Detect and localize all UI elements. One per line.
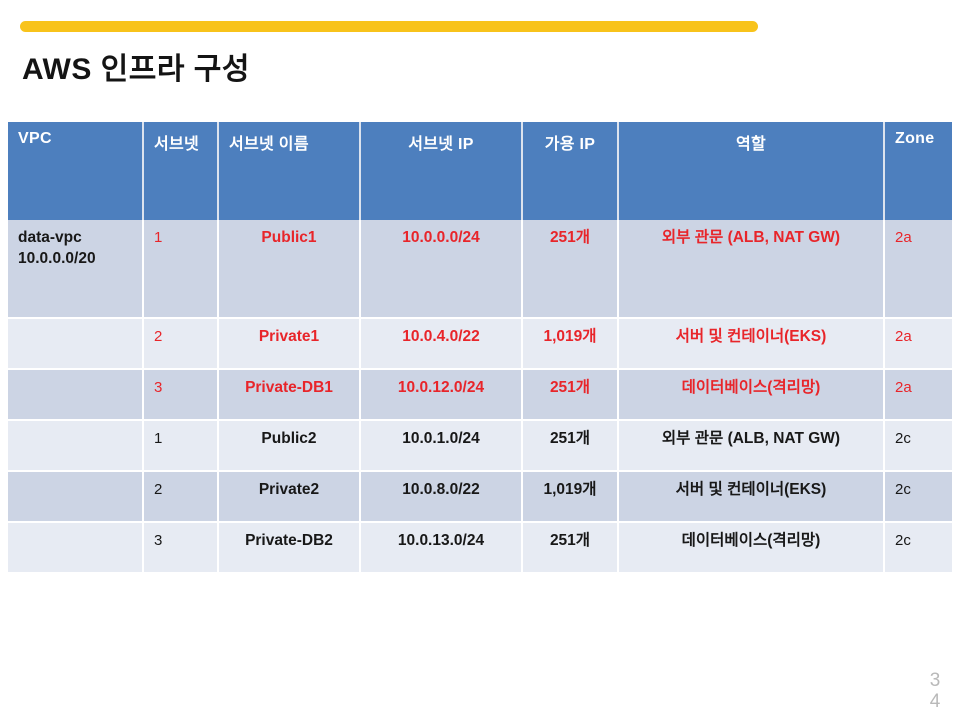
- cell-subnet-index: 3: [143, 522, 218, 573]
- infra-table: VPC 서브넷 서브넷 이름 서브넷 IP 가용 IP 역할 Zone data…: [8, 122, 952, 574]
- table-header-row: VPC 서브넷 서브넷 이름 서브넷 IP 가용 IP 역할 Zone: [8, 122, 952, 220]
- column-header-available-ip: 가용 IP: [522, 122, 618, 220]
- column-header-role: 역할: [618, 122, 884, 220]
- column-header-subnet: 서브넷: [143, 122, 218, 220]
- cell-vpc: [8, 318, 143, 369]
- cell-subnet-ip: 10.0.1.0/24: [360, 420, 522, 471]
- cell-subnet-ip: 10.0.8.0/22: [360, 471, 522, 522]
- table-body: data-vpc 10.0.0.0/20 1 Public1 10.0.0.0/…: [8, 220, 952, 573]
- title-accent-bar: [20, 21, 758, 32]
- cell-zone: 2a: [884, 220, 952, 318]
- slide-canvas: AWS 인프라 구성 VPC 서브넷 서브넷 이름 서브넷 IP 가용 IP 역…: [0, 0, 960, 720]
- table-row: 3 Private-DB2 10.0.13.0/24 251개 데이터베이스(격…: [8, 522, 952, 573]
- cell-subnet-index: 2: [143, 471, 218, 522]
- cell-zone: 2a: [884, 318, 952, 369]
- cell-vpc: [8, 420, 143, 471]
- cell-subnet-name: Public1: [218, 220, 360, 318]
- cell-role: 데이터베이스(격리망): [618, 369, 884, 420]
- cell-available-ip: 251개: [522, 420, 618, 471]
- cell-role: 외부 관문 (ALB, NAT GW): [618, 420, 884, 471]
- cell-available-ip: 251개: [522, 369, 618, 420]
- cell-vpc: [8, 471, 143, 522]
- cell-available-ip: 1,019개: [522, 318, 618, 369]
- page-number: 3 4: [924, 670, 946, 712]
- cell-role: 외부 관문 (ALB, NAT GW): [618, 220, 884, 318]
- cell-zone: 2a: [884, 369, 952, 420]
- table-row: 2 Private2 10.0.8.0/22 1,019개 서버 및 컨테이너(…: [8, 471, 952, 522]
- cell-role: 서버 및 컨테이너(EKS): [618, 318, 884, 369]
- table-header: VPC 서브넷 서브넷 이름 서브넷 IP 가용 IP 역할 Zone: [8, 122, 952, 220]
- cell-subnet-index: 1: [143, 420, 218, 471]
- table-row: 3 Private-DB1 10.0.12.0/24 251개 데이터베이스(격…: [8, 369, 952, 420]
- column-header-zone: Zone: [884, 122, 952, 220]
- cell-subnet-ip: 10.0.12.0/24: [360, 369, 522, 420]
- cell-vpc: [8, 522, 143, 573]
- cell-role: 서버 및 컨테이너(EKS): [618, 471, 884, 522]
- infra-table-container: VPC 서브넷 서브넷 이름 서브넷 IP 가용 IP 역할 Zone data…: [8, 122, 952, 574]
- cell-subnet-index: 2: [143, 318, 218, 369]
- cell-subnet-index: 3: [143, 369, 218, 420]
- cell-subnet-name: Public2: [218, 420, 360, 471]
- cell-zone: 2c: [884, 420, 952, 471]
- cell-available-ip: 251개: [522, 522, 618, 573]
- cell-role: 데이터베이스(격리망): [618, 522, 884, 573]
- page-title: AWS 인프라 구성: [22, 44, 250, 88]
- cell-zone: 2c: [884, 471, 952, 522]
- cell-available-ip: 251개: [522, 220, 618, 318]
- cell-vpc: [8, 369, 143, 420]
- cell-zone: 2c: [884, 522, 952, 573]
- column-header-subnet-name: 서브넷 이름: [218, 122, 360, 220]
- column-header-subnet-ip: 서브넷 IP: [360, 122, 522, 220]
- table-row: data-vpc 10.0.0.0/20 1 Public1 10.0.0.0/…: [8, 220, 952, 318]
- vpc-cidr-line: 10.0.0.0/20: [18, 250, 96, 267]
- cell-subnet-name: Private-DB2: [218, 522, 360, 573]
- page-number-digit-1: 3: [924, 670, 946, 691]
- cell-subnet-ip: 10.0.0.0/24: [360, 220, 522, 318]
- cell-available-ip: 1,019개: [522, 471, 618, 522]
- column-header-vpc: VPC: [8, 122, 143, 220]
- cell-subnet-ip: 10.0.13.0/24: [360, 522, 522, 573]
- page-number-digit-2: 4: [924, 691, 946, 712]
- table-row: 1 Public2 10.0.1.0/24 251개 외부 관문 (ALB, N…: [8, 420, 952, 471]
- cell-vpc: data-vpc 10.0.0.0/20: [8, 220, 143, 318]
- cell-subnet-name: Private2: [218, 471, 360, 522]
- table-row: 2 Private1 10.0.4.0/22 1,019개 서버 및 컨테이너(…: [8, 318, 952, 369]
- cell-subnet-index: 1: [143, 220, 218, 318]
- vpc-name-line: data-vpc: [18, 229, 82, 246]
- cell-subnet-name: Private1: [218, 318, 360, 369]
- cell-subnet-ip: 10.0.4.0/22: [360, 318, 522, 369]
- cell-subnet-name: Private-DB1: [218, 369, 360, 420]
